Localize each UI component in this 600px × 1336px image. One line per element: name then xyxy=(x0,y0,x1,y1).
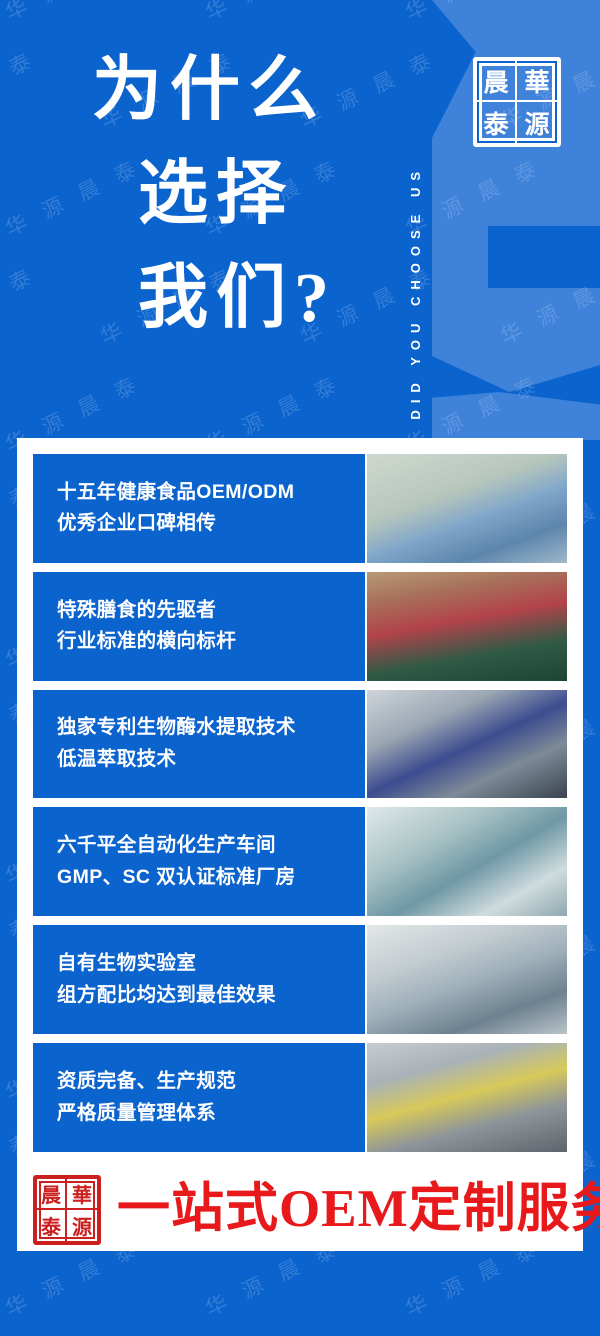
banner-seal-char-bottom-right: 源 xyxy=(67,1210,97,1241)
feature-card-2-line-2: 行业标准的横向标杆 xyxy=(57,626,365,658)
feature-row: 六千平全自动化生产车间GMP、SC 双认证标准厂房 xyxy=(33,807,567,916)
title-line-2: 选择 xyxy=(138,160,382,230)
feature-card-5-line-2: 组方配比均达到最佳效果 xyxy=(57,980,365,1012)
feature-row: 自有生物实验室组方配比均达到最佳效果 xyxy=(33,925,567,1034)
feature-card-1-line-2: 优秀企业口碑相传 xyxy=(57,508,365,540)
feature-row: 十五年健康食品OEM/ODM优秀企业口碑相传 xyxy=(33,454,567,563)
banner-seal-char-bottom-left: 泰 xyxy=(37,1210,67,1241)
feature-card-4-line-2: GMP、SC 双认证标准厂房 xyxy=(57,862,365,894)
title-line-1: 为什么 xyxy=(92,56,382,126)
feature-card-1-line-1: 十五年健康食品OEM/ODM xyxy=(57,477,365,509)
banner-headline: 一站式OEM定制服务 xyxy=(117,1183,600,1236)
poster-header: 为什么 选择 我们? DID YOU CHOOSE US 晨 華 泰 源 xyxy=(0,0,600,438)
poster-root: 为什么 选择 我们? DID YOU CHOOSE US 晨 華 泰 源 十五年… xyxy=(0,0,600,1336)
feature-photo-6 xyxy=(367,1043,567,1152)
feature-card-6-line-1: 资质完备、生产规范 xyxy=(57,1066,365,1098)
feature-row: 资质完备、生产规范严格质量管理体系 xyxy=(33,1043,567,1152)
feature-card-3[interactable]: 独家专利生物酶水提取技术低温萃取技术 xyxy=(33,690,365,799)
feature-row: 独家专利生物酶水提取技术低温萃取技术 xyxy=(33,690,567,799)
feature-card-6[interactable]: 资质完备、生产规范严格质量管理体系 xyxy=(33,1043,365,1152)
banner-seal-char-top-left: 晨 xyxy=(37,1179,67,1210)
feature-card-1[interactable]: 十五年健康食品OEM/ODM优秀企业口碑相传 xyxy=(33,454,365,563)
feature-photo-4 xyxy=(367,807,567,916)
title-line-3: 我们? xyxy=(138,264,382,334)
banner-seal-logo: 晨 華 泰 源 xyxy=(33,1175,101,1245)
feature-card-5-line-1: 自有生物实验室 xyxy=(57,948,365,980)
seal-char-top-left: 晨 xyxy=(477,61,517,102)
seal-char-bottom-right: 源 xyxy=(517,102,557,143)
feature-card-3-line-1: 独家专利生物酶水提取技术 xyxy=(57,712,365,744)
feature-card-5[interactable]: 自有生物实验室组方配比均达到最佳效果 xyxy=(33,925,365,1034)
seal-char-top-right: 華 xyxy=(517,61,557,102)
feature-card-3-line-2: 低温萃取技术 xyxy=(57,744,365,776)
page-title: 为什么 选择 我们? xyxy=(92,56,382,334)
feature-photo-3 xyxy=(367,690,567,799)
feature-card-4-line-1: 六千平全自动化生产车间 xyxy=(57,830,365,862)
feature-rows: 十五年健康食品OEM/ODM优秀企业口碑相传特殊膳食的先驱者行业标准的横向标杆独… xyxy=(33,454,567,1152)
feature-card-4[interactable]: 六千平全自动化生产车间GMP、SC 双认证标准厂房 xyxy=(33,807,365,916)
feature-photo-2 xyxy=(367,572,567,681)
feature-photo-5 xyxy=(367,925,567,1034)
feature-row: 特殊膳食的先驱者行业标准的横向标杆 xyxy=(33,572,567,681)
feature-list-frame: 十五年健康食品OEM/ODM优秀企业口碑相传特殊膳食的先驱者行业标准的横向标杆独… xyxy=(17,438,583,1168)
feature-card-2[interactable]: 特殊膳食的先驱者行业标准的横向标杆 xyxy=(33,572,365,681)
vertical-english-text: DID YOU CHOOSE US xyxy=(409,165,422,420)
feature-photo-1 xyxy=(367,454,567,563)
feature-card-2-line-1: 特殊膳食的先驱者 xyxy=(57,595,365,627)
bottom-banner: 晨 華 泰 源 一站式OEM定制服务 xyxy=(17,1168,583,1251)
brand-seal-logo: 晨 華 泰 源 xyxy=(473,57,561,147)
banner-seal-char-top-right: 華 xyxy=(67,1179,97,1210)
seal-char-bottom-left: 泰 xyxy=(477,102,517,143)
vertical-english-tagline: DID YOU CHOOSE US xyxy=(402,20,428,420)
feature-card-6-line-2: 严格质量管理体系 xyxy=(57,1098,365,1130)
